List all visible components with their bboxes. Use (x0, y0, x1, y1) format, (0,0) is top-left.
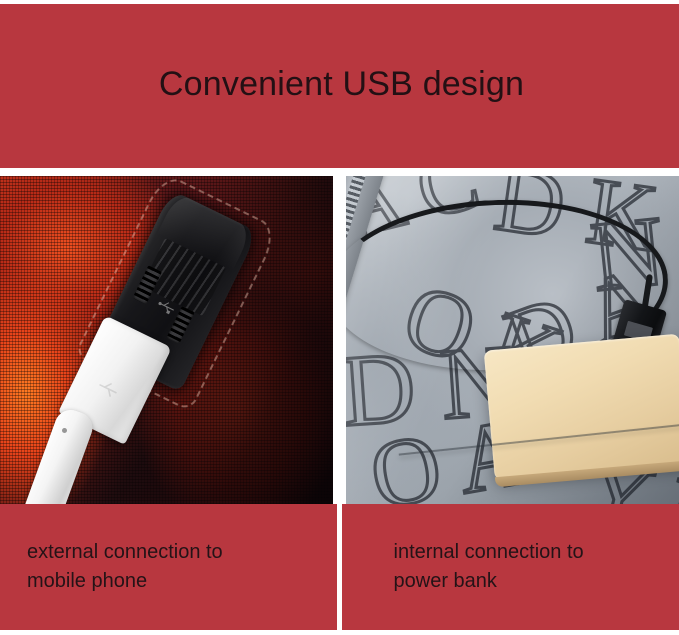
caption-external: external connection to mobile phone (0, 538, 223, 596)
power-bank (484, 334, 679, 481)
product-feature-poster: Convenient USB design (0, 0, 679, 635)
caption-cell-internal: internal connection to power bank (340, 504, 679, 630)
photo-band: A C D K N Y O K D A D N K R O A D Y N (0, 176, 679, 504)
bottom-edge-strip (0, 630, 679, 635)
cable-strain-relief-dot (62, 428, 67, 433)
caption-cell-external: external connection to mobile phone (0, 504, 340, 630)
header-band: Convenient USB design (0, 4, 679, 168)
caption-divider (337, 504, 342, 630)
caption-internal: internal connection to power bank (340, 538, 584, 596)
photo-external-usb-connection (0, 176, 333, 504)
usb-plug-logo-icon (91, 372, 125, 406)
photo-internal-powerbank-connection: A C D K N Y O K D A D N K R O A D Y N (346, 176, 679, 504)
page-title: Convenient USB design (159, 64, 524, 104)
